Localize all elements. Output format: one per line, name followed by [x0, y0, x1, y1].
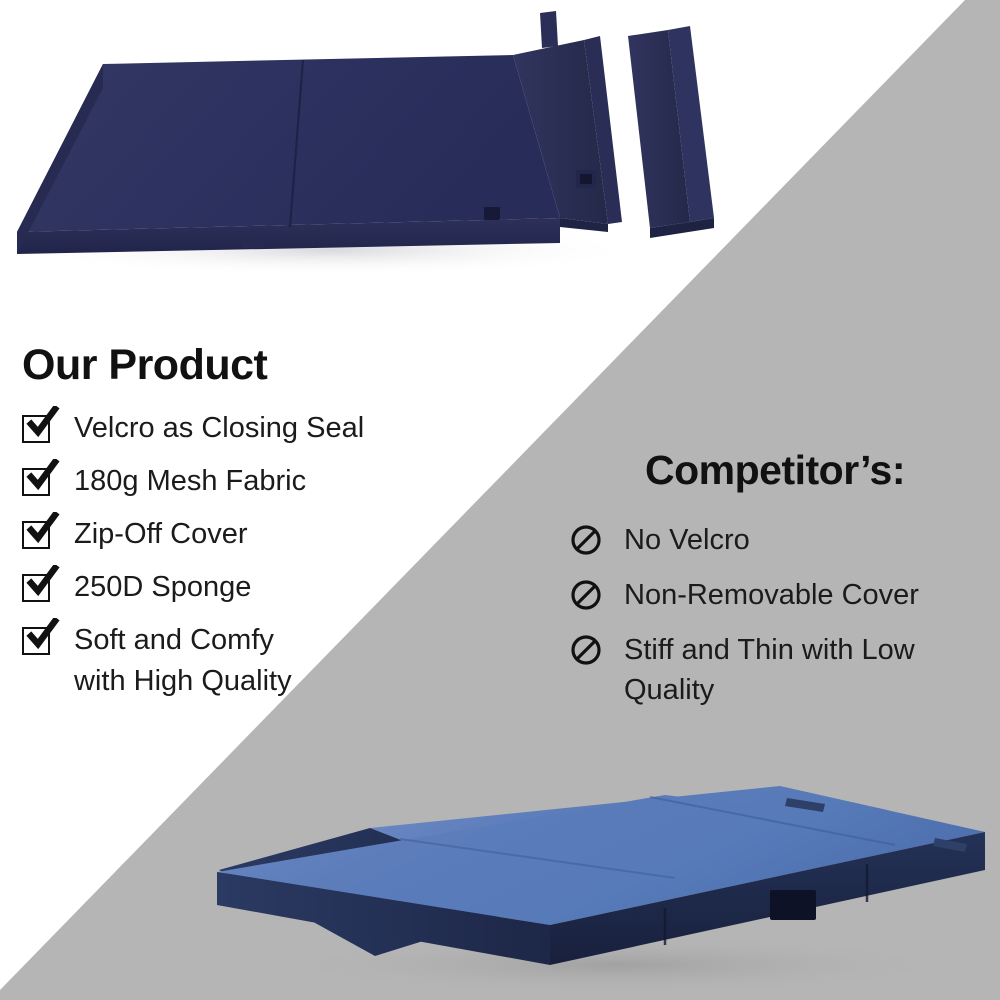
list-item-label: No Velcro — [624, 520, 750, 560]
checkbox-checked-icon — [22, 624, 56, 658]
prohibition-icon — [570, 633, 604, 667]
our-product-feature-list: Velcro as Closing Seal 180g Mesh Fabric … — [22, 408, 442, 714]
our-product-image — [0, 0, 780, 290]
infographic-canvas: Our Product Velcro as Closing Seal 180g … — [0, 0, 1000, 1000]
list-item: Zip-Off Cover — [22, 514, 442, 555]
list-item: 180g Mesh Fabric — [22, 461, 442, 502]
competitor-heading: Competitor’s: — [645, 447, 905, 494]
our-product-heading: Our Product — [22, 341, 267, 390]
list-item-label: Velcro as Closing Seal — [74, 408, 364, 449]
list-item: Non-Removable Cover — [570, 575, 990, 615]
list-item-label: Stiff and Thin with Low Quality — [624, 630, 969, 710]
checkbox-checked-icon — [22, 465, 56, 499]
list-item: Soft and Comfy with High Quality — [22, 620, 442, 702]
competitor-feature-list: No Velcro Non-Removable Cover Stiff and … — [570, 520, 990, 725]
list-item-label: Zip-Off Cover — [74, 514, 248, 555]
competitor-product-image — [195, 760, 1000, 1000]
prohibition-icon — [570, 578, 604, 612]
checkbox-checked-icon — [22, 571, 56, 605]
checkbox-checked-icon — [22, 518, 56, 552]
list-item-label: 180g Mesh Fabric — [74, 461, 306, 502]
list-item-label: Soft and Comfy with High Quality — [74, 620, 324, 702]
list-item: Velcro as Closing Seal — [22, 408, 442, 449]
list-item-label: Non-Removable Cover — [624, 575, 919, 615]
list-item: 250D Sponge — [22, 567, 442, 608]
prohibition-icon — [570, 523, 604, 557]
checkbox-checked-icon — [22, 412, 56, 446]
list-item: Stiff and Thin with Low Quality — [570, 630, 990, 710]
list-item-label: 250D Sponge — [74, 567, 251, 608]
list-item: No Velcro — [570, 520, 990, 560]
